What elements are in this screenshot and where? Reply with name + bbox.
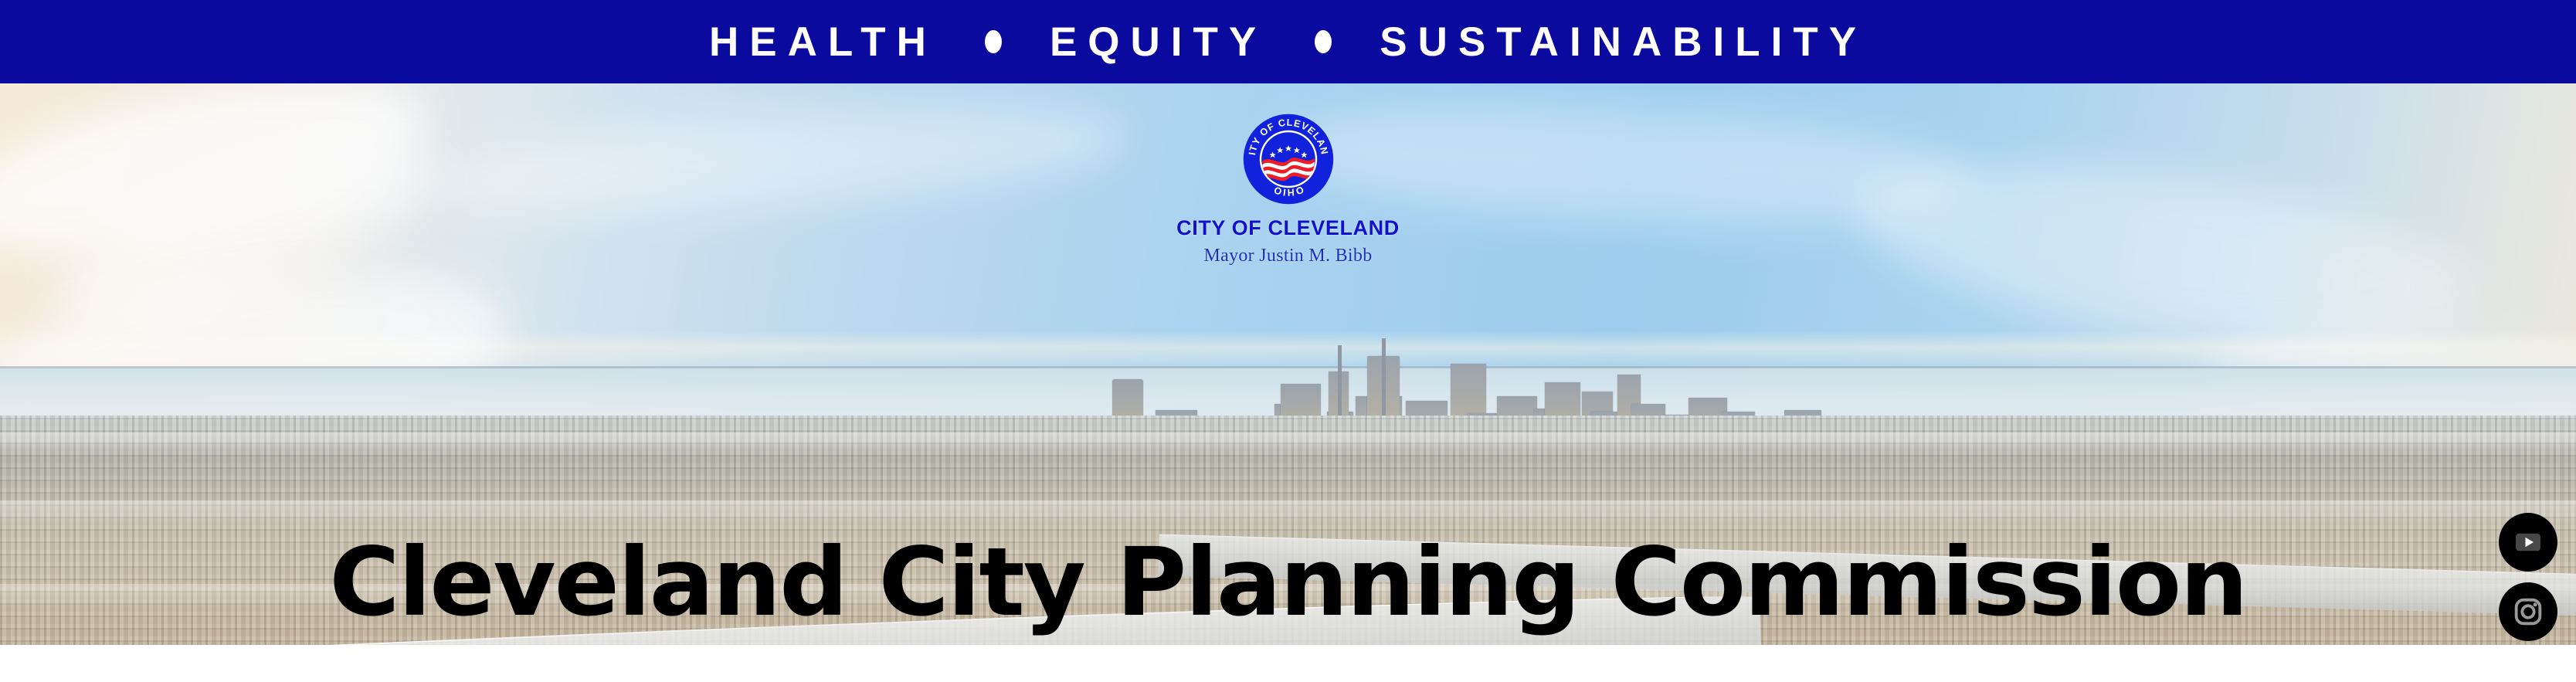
hero-photo-banner: CITY OF CLEVELAND OHIO bbox=[0, 83, 2576, 645]
tagline-word-equity: EQUITY bbox=[1050, 22, 1267, 63]
bullet-dot-icon bbox=[1315, 30, 1332, 53]
snow-band bbox=[0, 433, 2576, 453]
city-of-cleveland-seal-icon: CITY OF CLEVELAND OHIO bbox=[1242, 113, 1335, 205]
social-links bbox=[2497, 513, 2559, 645]
tagline-banner: HEALTH EQUITY SUSTAINABILITY bbox=[0, 0, 2576, 83]
logo-subtitle: Mayor Justin M. Bibb bbox=[1203, 246, 1372, 266]
page-title: Cleveland City Planning Commission bbox=[0, 535, 2576, 629]
city-logo-block: CITY OF CLEVELAND OHIO bbox=[0, 83, 2576, 266]
logo-title: CITY OF CLEVELAND bbox=[1176, 216, 1400, 240]
bullet-dot-icon bbox=[985, 30, 1002, 53]
instagram-icon bbox=[2510, 594, 2546, 629]
snow-band bbox=[0, 500, 2576, 527]
tagline-word-sustainability: SUSTAINABILITY bbox=[1380, 22, 1867, 63]
page-root: HEALTH EQUITY SUSTAINABILITY bbox=[0, 0, 2576, 682]
youtube-icon bbox=[2510, 524, 2547, 561]
social-link-youtube[interactable] bbox=[2499, 513, 2557, 572]
tagline-word-health: HEALTH bbox=[709, 22, 937, 63]
social-link-instagram[interactable] bbox=[2499, 582, 2557, 641]
